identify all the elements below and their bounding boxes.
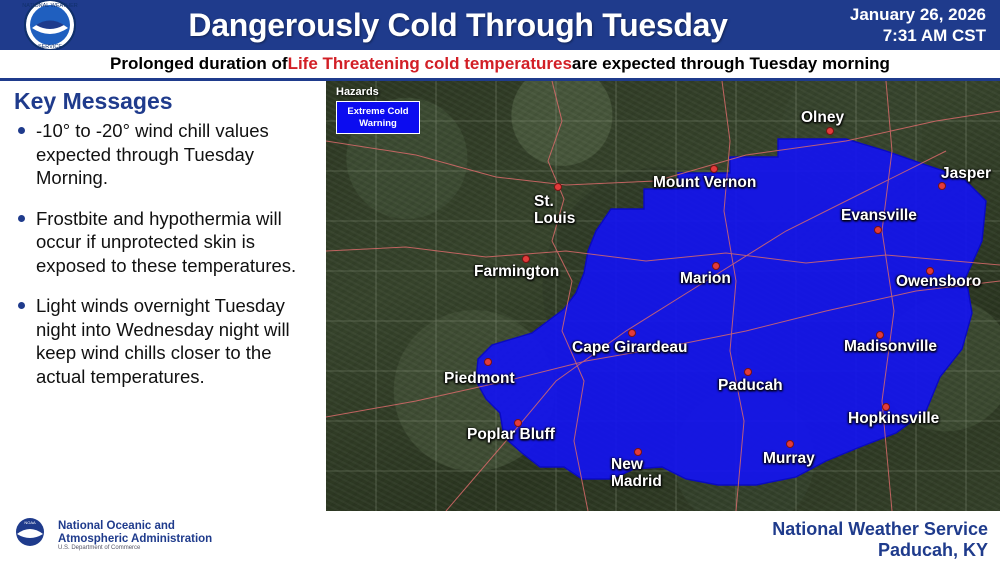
city-dot	[826, 127, 834, 135]
city-dot	[628, 329, 636, 337]
key-messages-list: -10° to -20° wind chill values expected …	[14, 119, 314, 405]
city-label-jasper: Jasper	[941, 165, 991, 182]
city-label-cape-girardeau: Cape Girardeau	[572, 339, 687, 356]
city-label-madisonville: Madisonville	[844, 338, 937, 355]
city-label-st-louis: St. Louis	[534, 193, 575, 227]
city-dot	[938, 182, 946, 190]
list-item: -10° to -20° wind chill values expected …	[14, 119, 314, 190]
noaa-department-line: U.S. Department of Commerce	[58, 545, 140, 551]
city-label-olney: Olney	[801, 109, 844, 126]
city-dot	[786, 440, 794, 448]
issuance-datetime: January 26, 2026 7:31 AM CST	[796, 4, 986, 46]
list-item: Light winds overnight Tuesday night into…	[14, 294, 314, 388]
svg-text:NOAA: NOAA	[24, 520, 36, 525]
legend-title: Hazards	[336, 86, 428, 98]
city-label-hopkinsville: Hopkinsville	[848, 410, 939, 427]
city-label-murray: Murray	[763, 450, 815, 467]
city-dot	[712, 262, 720, 270]
issuance-date: January 26, 2026	[796, 4, 986, 25]
city-label-mount-vernon: Mount Vernon	[653, 174, 756, 191]
city-label-piedmont: Piedmont	[444, 370, 515, 387]
page-title: Dangerously Cold Through Tuesday	[108, 2, 808, 48]
nws-agency-name: National Weather Service	[772, 519, 988, 540]
city-dot	[522, 255, 530, 263]
key-messages-panel: Key Messages -10° to -20° wind chill val…	[0, 81, 324, 511]
issuance-time: 7:31 AM CST	[796, 25, 986, 46]
subheader-prefix: Prolonged duration of	[110, 54, 288, 74]
city-dot	[874, 226, 882, 234]
noaa-line-1: National Oceanic and	[58, 520, 212, 533]
city-label-marion: Marion	[680, 270, 731, 287]
subheader-banner: Prolonged duration of Life Threatening c…	[0, 50, 1000, 78]
subheader-suffix: are expected through Tuesday morning	[572, 54, 890, 74]
svg-text:NATIONAL WEATHER: NATIONAL WEATHER	[22, 3, 78, 9]
city-label-new-madrid: New Madrid	[611, 456, 662, 490]
city-dot	[634, 448, 642, 456]
city-label-paducah: Paducah	[718, 377, 783, 394]
city-dot	[744, 368, 752, 376]
nws-office-block: National Weather Service Paducah, KY	[772, 519, 988, 561]
city-label-owensboro: Owensboro	[896, 273, 981, 290]
noaa-nws-seal-icon: NATIONAL WEATHER SERVICE	[6, 0, 102, 54]
page-header: NATIONAL WEATHER SERVICE Dangerously Col…	[0, 0, 1000, 50]
city-label-farmington: Farmington	[474, 263, 559, 280]
noaa-agency-name: National Oceanic and Atmospheric Adminis…	[58, 520, 212, 545]
noaa-seal-icon: NOAA	[8, 517, 52, 547]
city-dot	[710, 165, 718, 173]
list-item: Frostbite and hypothermia will occur if …	[14, 207, 314, 278]
hazard-map[interactable]: Hazards Extreme Cold Warning St. Louis O…	[326, 81, 1000, 511]
city-dot	[484, 358, 492, 366]
map-legend: Hazards Extreme Cold Warning	[336, 86, 428, 134]
subheader-highlight: Life Threatening cold temperatures	[288, 54, 572, 74]
rivers-and-highways	[326, 81, 1000, 511]
key-messages-title: Key Messages	[14, 88, 173, 115]
city-label-poplar-bluff: Poplar Bluff	[467, 426, 555, 443]
noaa-line-2: Atmospheric Administration	[58, 533, 212, 546]
city-dot	[554, 183, 562, 191]
page-footer: NOAA National Oceanic and Atmospheric Ad…	[0, 511, 1000, 551]
legend-item-extreme-cold-warning: Extreme Cold Warning	[336, 101, 420, 134]
city-label-evansville: Evansville	[841, 207, 917, 224]
